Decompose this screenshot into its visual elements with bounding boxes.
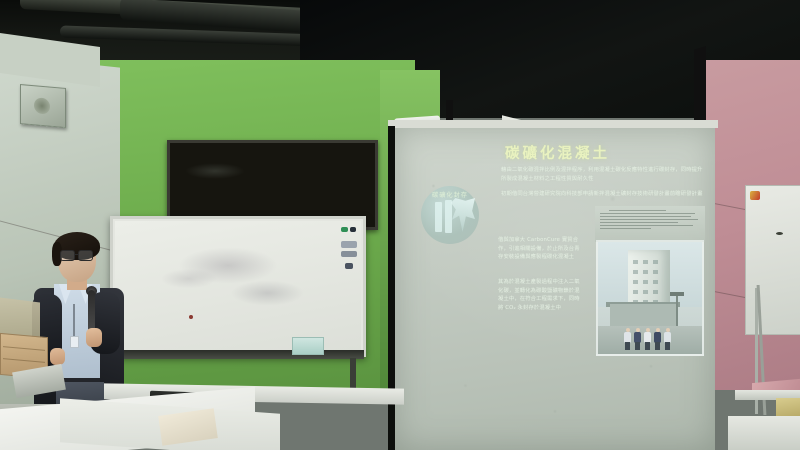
speaker-icon	[20, 84, 66, 128]
whiteboard-paper-stack[interactable]	[292, 337, 324, 355]
flipchart-mark	[776, 232, 783, 235]
microphone-body	[88, 290, 95, 332]
whiteboard-marker-dot	[189, 315, 193, 319]
presenter-hand-left	[50, 348, 65, 365]
lecture-room-photo: 碳礦化混凝土 藉由二氧化碳混拌比例及混拌程序，利用混凝土碳化反應特性進行碳封存，…	[0, 0, 800, 450]
presenter-badge	[70, 336, 79, 348]
whiteboard-magnet[interactable]	[350, 227, 356, 232]
photo-person	[634, 328, 641, 350]
photo-person	[624, 328, 631, 350]
yellow-object	[776, 398, 800, 416]
glasses-bridge	[74, 254, 79, 255]
photo-pole	[676, 294, 678, 328]
photo-person	[654, 328, 661, 350]
slide-paragraph-4: 其為於混凝土產製過程中注入二氧化碳，並轉化為碳酸鹽礦物鎖於混凝土中，在符合工程需…	[498, 278, 582, 312]
slide-photo	[596, 240, 704, 356]
slide-title: 碳礦化混凝土	[505, 142, 610, 163]
whiteboard-magnet[interactable]	[341, 227, 348, 232]
presenter-hand-right	[86, 328, 102, 347]
whiteboard-surface[interactable]	[115, 221, 361, 352]
display-reflection	[185, 163, 245, 179]
whiteboard-eraser[interactable]	[341, 241, 357, 248]
glasses-icon	[60, 250, 75, 261]
slide-paragraph-3: 偕與加拿大 CarbonCure 實質合作，引進相關設備，於止所及台青存安裝設備…	[498, 236, 582, 262]
photo-pole-head	[670, 292, 684, 296]
photo-person	[664, 328, 671, 350]
slide-paragraph-1: 藉由二氧化碳混拌比例及混拌程序，利用混凝土碳化反應特性進行碳封存，同時提升所製成…	[501, 166, 706, 183]
photo-person	[644, 328, 651, 350]
glasses-icon	[78, 250, 93, 261]
slide-paragraph-2: 初期偕同台灣營建研究院向科技部申請新拌混凝土礦封存技術研發計畫前瞻研發計畫	[501, 190, 706, 199]
flipchart-magnet[interactable]	[750, 191, 760, 200]
presenter-lanyard	[73, 304, 75, 338]
document-thumbnail	[595, 206, 705, 242]
flipchart-board[interactable]	[745, 185, 800, 335]
whiteboard-magnet[interactable]	[345, 263, 353, 269]
photo-shed	[610, 304, 676, 326]
icon-bar	[435, 202, 442, 232]
screen-top-bar	[388, 120, 718, 128]
icon-bar	[445, 200, 452, 233]
projection-screen: 碳礦化混凝土 藉由二氧化碳混拌比例及混拌程序，利用混凝土碳化反應特性進行碳封存，…	[395, 128, 715, 450]
icon-label: 碳礦化封存	[403, 190, 497, 199]
whiteboard-eraser[interactable]	[341, 251, 357, 257]
side-cabinet	[728, 416, 800, 450]
whiteboard[interactable]	[110, 216, 366, 357]
whiteboard-tray	[108, 350, 364, 359]
